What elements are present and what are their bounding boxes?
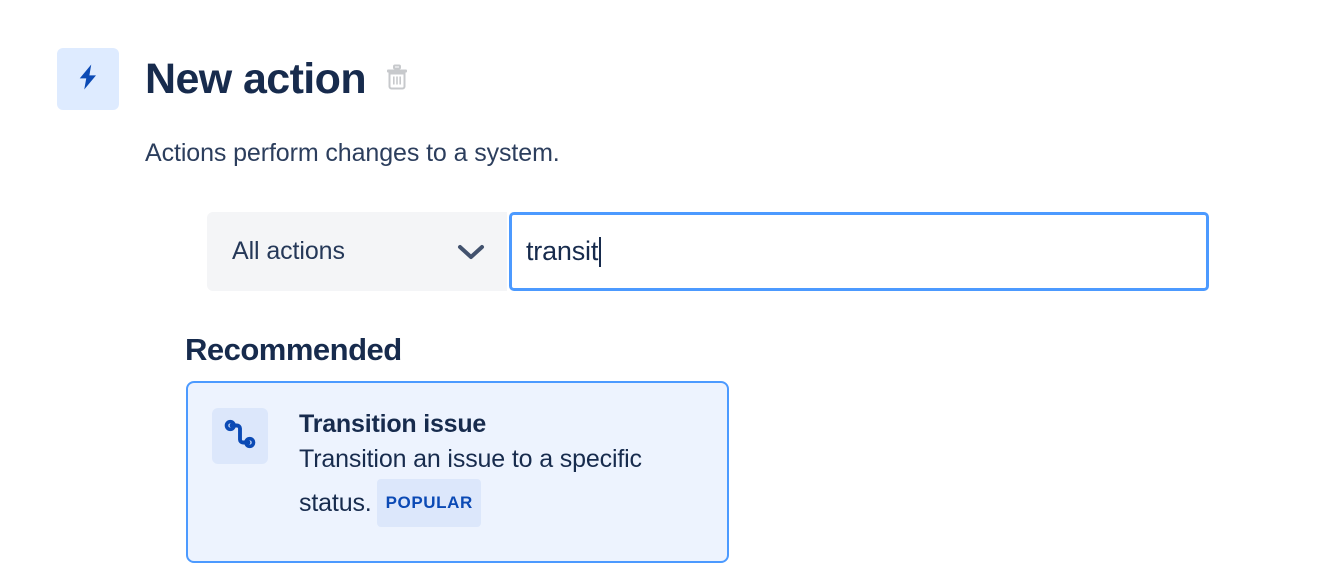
- header: New action: [57, 48, 410, 110]
- action-card-description: Transition an issue to a specific status…: [299, 439, 707, 527]
- page-title: New action: [145, 58, 366, 101]
- lightning-bolt-icon-tile: [57, 48, 119, 110]
- panel-description: Actions perform changes to a system.: [145, 137, 560, 169]
- trash-icon: [385, 64, 409, 94]
- action-card-title: Transition issue: [299, 409, 707, 439]
- action-card-text: Transition issue Transition an issue to …: [299, 408, 707, 527]
- action-search-input[interactable]: transit: [509, 212, 1209, 291]
- text-caret: [599, 237, 601, 267]
- transition-branch-icon-tile: [212, 408, 268, 464]
- lightning-bolt-icon: [73, 60, 103, 99]
- new-action-panel: New action Actions perform changes to a …: [0, 0, 1324, 586]
- title-block: New action: [145, 58, 410, 101]
- chevron-down-icon: [457, 243, 485, 261]
- action-filter-dropdown[interactable]: All actions: [207, 212, 507, 291]
- action-search-row: All actions transit: [207, 212, 1209, 291]
- delete-action-button[interactable]: [384, 64, 410, 94]
- popular-badge: POPULAR: [377, 479, 481, 527]
- transition-branch-icon: [223, 417, 257, 456]
- action-card-transition-issue[interactable]: Transition issue Transition an issue to …: [186, 381, 729, 563]
- action-search-value: transit: [526, 238, 598, 265]
- recommended-heading: Recommended: [185, 331, 402, 368]
- action-filter-label: All actions: [232, 237, 345, 266]
